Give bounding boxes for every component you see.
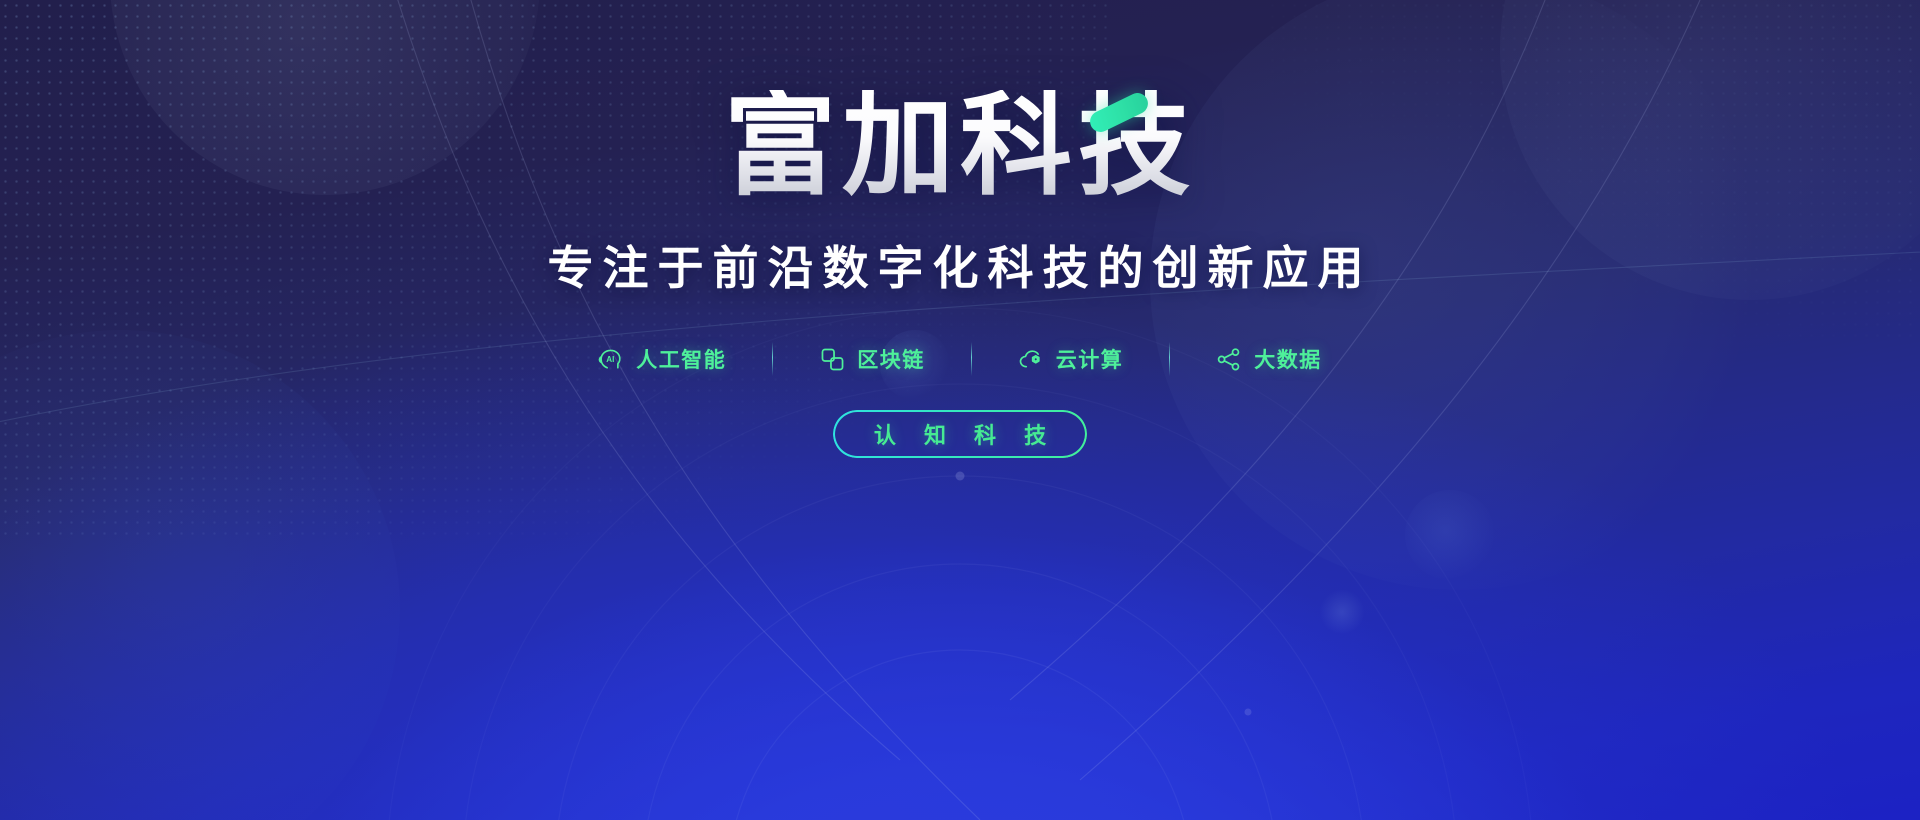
share-nodes-icon: [1216, 346, 1243, 373]
brand-logo: 富加科技: [724, 86, 1196, 206]
feature-tag-bigdata[interactable]: 大数据: [1170, 344, 1368, 374]
feature-tag-blockchain[interactable]: 区块链: [773, 344, 971, 374]
feature-tag-label: 云计算: [1056, 344, 1124, 374]
feature-tag-ai[interactable]: AI 人工智能: [552, 344, 772, 374]
feature-tag-cloud[interactable]: 云计算: [972, 344, 1170, 374]
hero-subtitle: 专注于前沿数字化科技的创新应用: [548, 232, 1373, 298]
hero-banner: 富加科技 专注于前沿数字化科技的创新应用 AI 人工智能: [0, 0, 1920, 820]
blockchain-blocks-icon: [819, 346, 846, 373]
svg-text:AI: AI: [607, 354, 615, 363]
feature-tag-label: 区块链: [857, 344, 925, 374]
cognitive-tech-badge[interactable]: 认 知 科 技: [833, 410, 1087, 458]
ai-head-icon: AI: [598, 346, 625, 373]
cloud-gear-icon: [1018, 346, 1045, 373]
feature-tag-label: 大数据: [1254, 344, 1322, 374]
hero-content: 富加科技 专注于前沿数字化科技的创新应用 AI 人工智能: [0, 0, 1920, 820]
badge-container: 认 知 科 技: [833, 410, 1087, 458]
feature-tag-list: AI 人工智能 区块链: [552, 342, 1368, 376]
feature-tag-label: 人工智能: [636, 344, 726, 374]
